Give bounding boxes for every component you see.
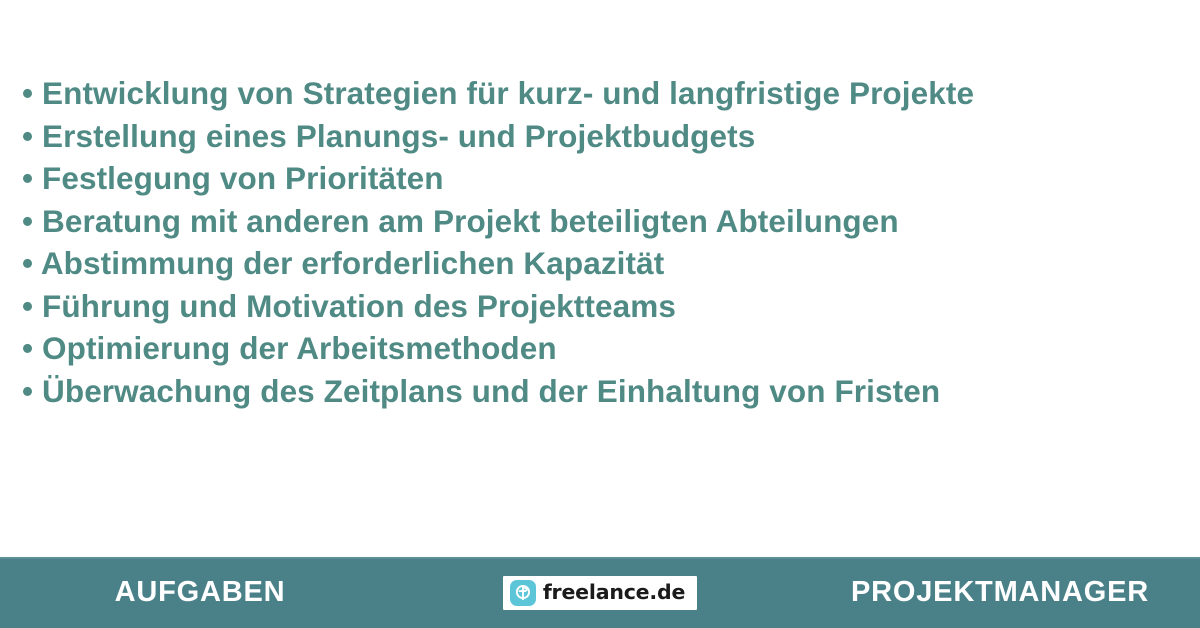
footer-logo-cell: freelance.de — [400, 576, 800, 610]
footer-right-label: PROJEKTMANAGER — [851, 576, 1149, 609]
task-content-area: • Entwicklung von Strategien für kurz- u… — [0, 0, 1200, 557]
freelance-de-logo[interactable]: freelance.de — [503, 576, 697, 610]
list-item: • Festlegung von Prioritäten — [22, 157, 1178, 200]
footer-left-label: AUFGABEN — [115, 576, 286, 609]
list-item: • Erstellung eines Planungs- und Projekt… — [22, 115, 1178, 158]
freelance-de-wordmark: freelance.de — [543, 582, 685, 603]
list-item-label: Überwachung des Zeitplans und der Einhal… — [42, 373, 940, 409]
task-list: • Entwicklung von Strategien für kurz- u… — [22, 72, 1178, 412]
footer-bar: AUFGABEN freelance.de PROJEKTMANAGER — [0, 557, 1200, 628]
list-item-label: Beratung mit anderen am Projekt beteilig… — [42, 203, 899, 239]
freelance-de-logo-icon — [510, 580, 536, 606]
list-item: • Abstimmung der erforderlichen Kapazitä… — [22, 242, 1178, 285]
list-item: • Beratung mit anderen am Projekt beteil… — [22, 200, 1178, 243]
footer-right-cell: PROJEKTMANAGER — [800, 576, 1200, 609]
bullet-glyph: • — [22, 203, 33, 239]
bullet-glyph: • — [22, 160, 33, 196]
bullet-glyph: • — [22, 75, 33, 111]
list-item: • Überwachung des Zeitplans und der Einh… — [22, 370, 1178, 413]
list-item-label: Festlegung von Prioritäten — [42, 160, 444, 196]
list-item-label: Entwicklung von Strategien für kurz- und… — [42, 75, 974, 111]
bullet-glyph: • — [22, 373, 33, 409]
poster-canvas: • Entwicklung von Strategien für kurz- u… — [0, 0, 1200, 628]
bullet-glyph: • — [22, 330, 33, 366]
footer-left-cell: AUFGABEN — [0, 576, 400, 609]
bullet-glyph: • — [22, 288, 33, 324]
list-item-label: Abstimmung der erforderlichen Kapazität — [41, 245, 665, 281]
list-item-label: Optimierung der Arbeitsmethoden — [42, 330, 557, 366]
list-item-label: Führung und Motivation des Projektteams — [42, 288, 676, 324]
list-item: • Führung und Motivation des Projektteam… — [22, 285, 1178, 328]
list-item: • Optimierung der Arbeitsmethoden — [22, 327, 1178, 370]
bullet-glyph: • — [22, 245, 33, 281]
list-item: • Entwicklung von Strategien für kurz- u… — [22, 72, 1178, 115]
list-item-label: Erstellung eines Planungs- und Projektbu… — [42, 118, 755, 154]
bullet-glyph: • — [22, 118, 33, 154]
